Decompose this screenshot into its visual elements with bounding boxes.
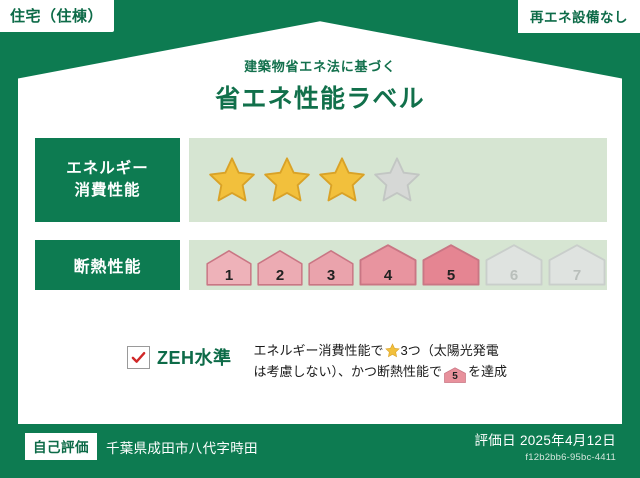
insulation-performance-row: 断熱性能 1234567: [35, 240, 607, 290]
evaluation-date: 評価日 2025年4月12日: [474, 429, 616, 449]
insulation-grade-chip-on: 5: [422, 243, 480, 286]
insulation-grade-chip-on: 1: [206, 249, 252, 286]
insulation-grade-chip-off: 7: [548, 243, 606, 286]
insulation-grade-chip-off: 6: [485, 243, 543, 286]
star-icon-filled: [316, 155, 368, 205]
zeh-desc-text-c: は考慮しない）、かつ断熱性能で: [254, 364, 443, 379]
insulation-performance-label: 断熱性能: [35, 240, 180, 290]
zeh-checkbox: [127, 346, 150, 369]
star-icon-inline: [385, 343, 400, 358]
insulation-grade-value: 1: [225, 268, 233, 283]
self-evaluation-badge: 自己評価: [25, 433, 97, 460]
star-icon-filled: [206, 155, 258, 205]
zeh-desc-text-b: 3つ（太陽光発電: [401, 343, 499, 358]
page-title: 建築物省エネ法に基づく 省エネ性能ラベル: [0, 56, 640, 115]
zeh-description: エネルギー消費性能で3つ（太陽光発電 は考慮しない）、かつ断熱性能で5を達成: [254, 340, 508, 383]
insulation-grade-chip-on: 2: [257, 249, 303, 286]
zeh-desc-line1: エネルギー消費性能で3つ（太陽光発電: [254, 340, 508, 361]
zeh-desc-text-a: エネルギー消費性能で: [254, 343, 384, 358]
insulation-grade-value: 6: [510, 268, 518, 283]
renewable-equipment-badge: 再エネ設備なし: [518, 0, 640, 33]
energy-performance-label: エネルギー 消費性能: [35, 138, 180, 222]
insulation-grade-chip-on: 4: [359, 243, 417, 286]
property-address: 千葉県成田市八代字時田: [106, 437, 258, 457]
zeh-desc-line2: は考慮しない）、かつ断熱性能で5を達成: [254, 361, 508, 383]
zeh-desc-text-d: を達成: [468, 364, 507, 379]
insulation-grade-value: 3: [327, 268, 335, 283]
insulation-grade-scale: 1234567: [189, 240, 607, 290]
building-type-badge: 住宅（住棟）: [0, 0, 114, 32]
evaluation-date-value: 2025年4月12日: [520, 433, 616, 448]
energy-label-line1: エネルギー: [66, 158, 149, 180]
zeh-label: ZEH水準: [157, 344, 232, 370]
energy-label-line2: 消費性能: [74, 180, 140, 202]
check-icon: [131, 350, 146, 365]
energy-performance-row: エネルギー 消費性能: [35, 138, 607, 222]
label-subtitle: 建築物省エネ法に基づく: [0, 56, 640, 75]
energy-star-rating: [189, 138, 607, 222]
insulation-grade-value: 5: [447, 268, 455, 283]
star-icon-filled: [261, 155, 313, 205]
zeh-section: ZEH水準 エネルギー消費性能で3つ（太陽光発電 は考慮しない）、かつ断熱性能で…: [127, 340, 507, 383]
insulation-grade-value: 2: [276, 268, 284, 283]
footer-right: 評価日 2025年4月12日 f12b2bb6-95bc-4411: [474, 429, 616, 463]
evaluation-date-label: 評価日: [474, 433, 515, 448]
insulation-grade-badge-inline: 5: [444, 367, 466, 383]
insulation-grade-chip-on: 3: [308, 249, 354, 286]
star-icon-empty: [371, 155, 423, 205]
insulation-grade-value: 7: [573, 268, 581, 283]
evaluation-id: f12b2bb6-95bc-4411: [474, 452, 616, 463]
label-title: 省エネ性能ラベル: [0, 79, 640, 115]
footer-left: 自己評価 千葉県成田市八代字時田: [25, 433, 258, 460]
label-canvas: 住宅（住棟） 再エネ設備なし 建築物省エネ法に基づく 省エネ性能ラベル エネルギ…: [0, 0, 640, 478]
inline-badge-value: 5: [452, 372, 458, 383]
insulation-grade-value: 4: [384, 268, 392, 283]
